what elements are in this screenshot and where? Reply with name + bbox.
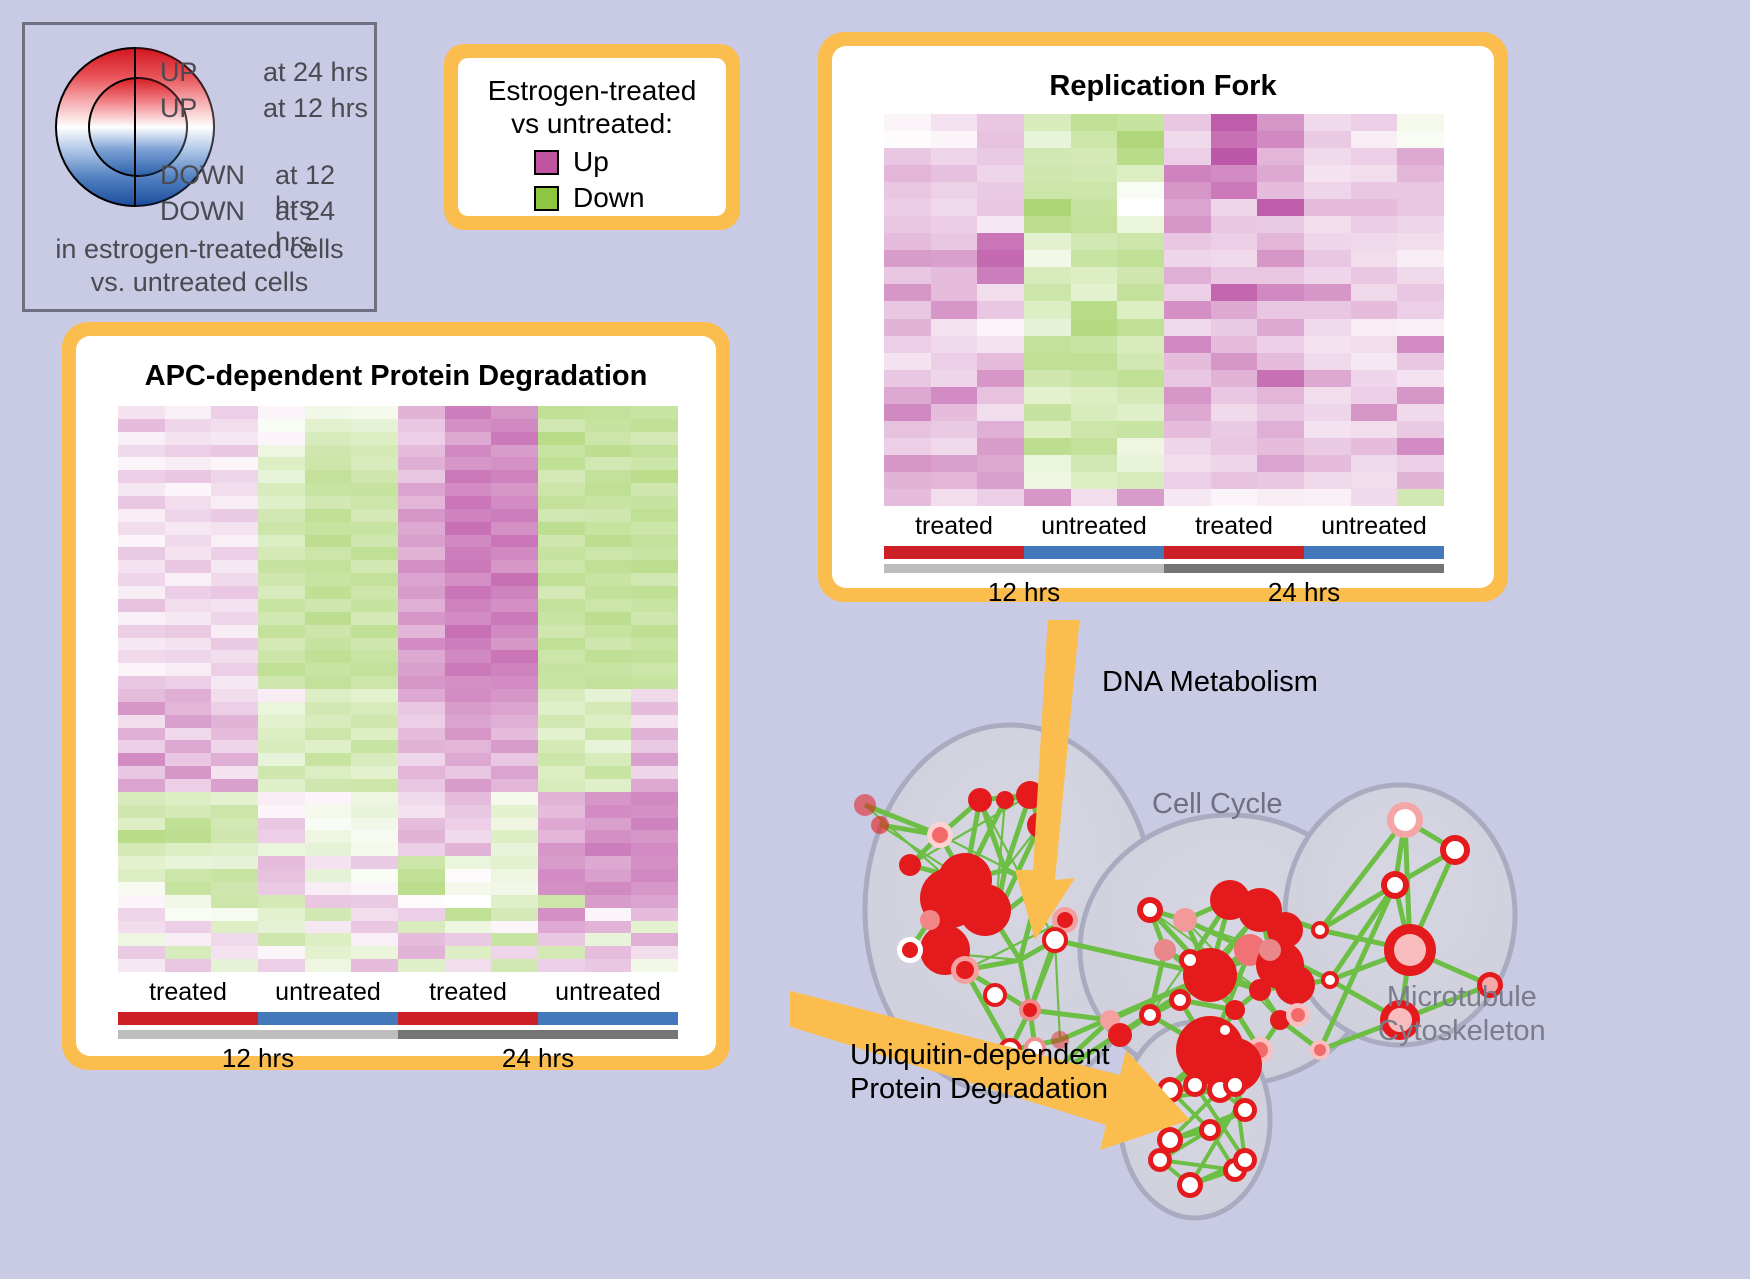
heatmap-cell [258,779,305,792]
heatmap-cell [1024,165,1071,182]
condition-bar-segment [1024,546,1164,559]
heatmap-cell [1304,148,1351,165]
heatmap-cell [1071,233,1118,250]
heatmap-cell [977,319,1024,336]
heatmap-cell [258,419,305,432]
heatmap-cell [258,959,305,972]
heatmap-cell [258,805,305,818]
heatmap-cell [258,728,305,741]
heatmap-cell [165,663,212,676]
heatmap-cell [1257,148,1304,165]
heatmap-cell [445,599,492,612]
heatmap-cell [538,470,585,483]
heatmap-cell [1117,114,1164,131]
heatmap-cell [351,432,398,445]
heatmap-cell [445,908,492,921]
heatmap-cell [445,509,492,522]
heatmap-cell [491,586,538,599]
heatmap-cell [1211,233,1258,250]
heatmap-cell [165,509,212,522]
heatmap-cell [884,250,931,267]
heatmap-cell [977,472,1024,489]
heatmap-cell [445,869,492,882]
heatmap-cell [631,740,678,753]
heatmap-cell [165,933,212,946]
heatmap-cell [305,406,352,419]
heatmap-cell [538,522,585,535]
heatmap-cell [445,535,492,548]
heatmap-cell [631,792,678,805]
heatmap-cell [585,792,632,805]
heatmap-cell [631,728,678,741]
heatmap-cell [977,336,1024,353]
heatmap-cell [165,625,212,638]
heatmap-cell [165,547,212,560]
heatmap-cell [351,586,398,599]
heatmap-cell [445,612,492,625]
heatmap-cell [538,702,585,715]
heatmap-cell [211,483,258,496]
heatmap-cell [491,728,538,741]
heatmap-cell [631,869,678,882]
updown-legend-panel: Estrogen-treated vs untreated: Up Down [444,44,740,230]
heatmap-cell [351,535,398,548]
heatmap-cell [1164,148,1211,165]
heatmap-cell [1164,387,1211,404]
heatmap-cell [1024,233,1071,250]
heatmap-cell [631,818,678,831]
heatmap-cell [538,445,585,458]
heatmap-cell [631,933,678,946]
heatmap-cell [118,496,165,509]
heatmap-cell [585,432,632,445]
heatmap-cell [305,638,352,651]
heatmap-cell [351,805,398,818]
heatmap-cell [1304,353,1351,370]
heatmap-cell [1164,182,1211,199]
heatmap-cell [211,689,258,702]
heatmap-cell [491,715,538,728]
heatmap-cell [1257,370,1304,387]
heatmap-cell [1164,301,1211,318]
updown-legend-title-line2: vs untreated: [458,107,726,140]
heatmap-cell [931,250,978,267]
heatmap-cell [884,370,931,387]
heatmap-cell [585,805,632,818]
heatmap-cell [1397,284,1444,301]
heatmap-cell [1071,131,1118,148]
heatmap-cell [211,869,258,882]
heatmap-cell [258,445,305,458]
heatmap-cell [1304,199,1351,216]
heatmap-cell [1117,336,1164,353]
heatmap-cell [1397,148,1444,165]
heatmap-cell [165,895,212,908]
heatmap-cell [1397,114,1444,131]
heatmap-cell [538,882,585,895]
heatmap-cell [631,650,678,663]
wheel-time-up-24: at 24 hrs [263,57,368,88]
heatmap-cell [491,522,538,535]
heatmap-cell [1071,114,1118,131]
heatmap-cell [491,535,538,548]
heatmap-cell [165,535,212,548]
heatmap-cell [445,573,492,586]
heatmap-cell [1257,404,1304,421]
heatmap-cell [491,933,538,946]
heatmap-cell [305,959,352,972]
heatmap-cell [118,625,165,638]
heatmap-cell [351,766,398,779]
heatmap-cell [585,766,632,779]
heatmap-cell [631,560,678,573]
heatmap-cell [211,792,258,805]
heatmap-cell [631,959,678,972]
heatmap-cell [211,805,258,818]
heatmap-cell [631,638,678,651]
heatmap-cell [538,766,585,779]
heatmap-cell [258,612,305,625]
replication-fork-heatmap [884,114,1444,506]
heatmap-cell [258,638,305,651]
condition-bar-segment [398,1012,538,1025]
heatmap-cell [445,547,492,560]
heatmap-cell [884,199,931,216]
heatmap-cell [398,676,445,689]
heatmap-cell [211,509,258,522]
heatmap-cell [1351,114,1398,131]
cluster-label-dna-metabolism: DNA Metabolism [1102,666,1318,699]
heatmap-cell [445,496,492,509]
heatmap-cell [118,766,165,779]
heatmap-cell [258,921,305,934]
heatmap-cell [445,921,492,934]
heatmap-cell [165,445,212,458]
heatmap-cell [211,638,258,651]
heatmap-cell [305,650,352,663]
heatmap-cell [258,740,305,753]
heatmap-cell [118,779,165,792]
heatmap-cell [1024,353,1071,370]
heatmap-cell [165,818,212,831]
heatmap-cell [305,612,352,625]
heatmap-cell [258,406,305,419]
heatmap-cell [977,216,1024,233]
heatmap-cell [1071,148,1118,165]
heatmap-cell [1211,131,1258,148]
heatmap-cell [398,959,445,972]
heatmap-cell [305,715,352,728]
heatmap-cell [931,353,978,370]
heatmap-cell [491,509,538,522]
heatmap-cell [1024,438,1071,455]
heatmap-cell [445,856,492,869]
replication-fork-time-bar [884,564,1444,573]
heatmap-cell [398,779,445,792]
heatmap-cell [931,148,978,165]
heatmap-cell [165,779,212,792]
heatmap-cell [491,612,538,625]
heatmap-cell [585,547,632,560]
heatmap-cell [977,182,1024,199]
heatmap-cell [1304,301,1351,318]
heatmap-cell [211,740,258,753]
heatmap-cell [445,406,492,419]
heatmap-cell [165,740,212,753]
heatmap-cell [351,779,398,792]
heatmap-cell [305,586,352,599]
heatmap-cell [398,406,445,419]
heatmap-cell [631,753,678,766]
heatmap-cell [165,419,212,432]
heatmap-cell [211,625,258,638]
condition-bar-segment [118,1012,258,1025]
heatmap-cell [1164,114,1211,131]
heatmap-cell [1397,301,1444,318]
heatmap-cell [491,573,538,586]
heatmap-cell [398,457,445,470]
heatmap-cell [445,779,492,792]
heatmap-cell [884,233,931,250]
heatmap-cell [1257,284,1304,301]
heatmap-cell [165,650,212,663]
heatmap-cell [1397,199,1444,216]
heatmap-cell [398,470,445,483]
heatmap-cell [165,882,212,895]
heatmap-cell [884,148,931,165]
wheel-time-up-12: at 12 hrs [263,93,368,124]
apc-degradation-condition-labels: treated untreated treated untreated [118,978,678,1007]
heatmap-cell [884,165,931,182]
heatmap-cell [585,663,632,676]
heatmap-cell [118,753,165,766]
heatmap-cell [538,869,585,882]
heatmap-cell [1304,182,1351,199]
heatmap-cell [1304,250,1351,267]
heatmap-cell [631,856,678,869]
heatmap-cell [631,483,678,496]
heatmap-cell [165,702,212,715]
heatmap-cell [211,560,258,573]
heatmap-cell [1164,165,1211,182]
heatmap-cell [1304,336,1351,353]
replication-fork-time-labels: 12 hrs 24 hrs [884,577,1444,608]
heatmap-cell [305,792,352,805]
heatmap-cell [585,959,632,972]
heatmap-cell [165,496,212,509]
heatmap-cell [118,818,165,831]
heatmap-cell [585,586,632,599]
heatmap-cell [211,650,258,663]
heatmap-cell [538,753,585,766]
heatmap-cell [445,625,492,638]
heatmap-cell [211,522,258,535]
heatmap-cell [538,560,585,573]
heatmap-cell [977,421,1024,438]
heatmap-cell [118,457,165,470]
heatmap-cell [305,457,352,470]
heatmap-cell [977,165,1024,182]
heatmap-cell [1211,267,1258,284]
heatmap-cell [118,470,165,483]
heatmap-cell [491,946,538,959]
heatmap-cell [491,638,538,651]
heatmap-cell [351,612,398,625]
heatmap-cell [445,586,492,599]
apc-degradation-condition-bar [118,1012,678,1025]
heatmap-cell [631,586,678,599]
heatmap-cell [491,805,538,818]
heatmap-cell [1211,370,1258,387]
heatmap-cell [931,455,978,472]
heatmap-cell [931,267,978,284]
heatmap-cell [1351,284,1398,301]
heatmap-cell [165,689,212,702]
apc-degradation-heatmap [118,406,678,972]
heatmap-cell [118,650,165,663]
heatmap-cell [211,496,258,509]
heatmap-cell [305,946,352,959]
time-bar-segment [884,564,1164,573]
heatmap-cell [398,753,445,766]
time-bar-segment [1164,564,1444,573]
heatmap-cell [1257,233,1304,250]
heatmap-cell [118,483,165,496]
heatmap-cell [305,933,352,946]
heatmap-cell [491,445,538,458]
heatmap-cell [211,766,258,779]
heatmap-cell [118,522,165,535]
heatmap-cell [631,882,678,895]
heatmap-cell [305,728,352,741]
heatmap-cell [538,818,585,831]
heatmap-cell [1071,370,1118,387]
heatmap-cell [1117,165,1164,182]
heatmap-cell [305,908,352,921]
heatmap-cell [258,663,305,676]
heatmap-cell [305,560,352,573]
heatmap-cell [398,560,445,573]
heatmap-cell [445,933,492,946]
heatmap-cell [631,805,678,818]
heatmap-cell [445,445,492,458]
heatmap-cell [631,419,678,432]
heatmap-cell [1304,216,1351,233]
heatmap-cell [631,766,678,779]
heatmap-cell [1071,455,1118,472]
heatmap-cell [118,535,165,548]
heatmap-cell [631,676,678,689]
colorwheel-legend: UP at 24 hrs UP at 12 hrs DOWN at 12 hrs… [22,22,377,312]
heatmap-cell [884,472,931,489]
heatmap-cell [1164,199,1211,216]
heatmap-cell [585,535,632,548]
heatmap-cell [977,148,1024,165]
heatmap-cell [258,766,305,779]
heatmap-cell [258,625,305,638]
heatmap-cell [351,496,398,509]
heatmap-cell [977,404,1024,421]
heatmap-cell [1211,421,1258,438]
wheel-label-down-12: DOWN [160,160,245,191]
heatmap-cell [491,432,538,445]
heatmap-cell [1351,336,1398,353]
heatmap-cell [258,895,305,908]
heatmap-cell [1211,148,1258,165]
heatmap-cell [1211,165,1258,182]
heatmap-cell [1024,301,1071,318]
heatmap-cell [398,445,445,458]
heatmap-cell [351,483,398,496]
heatmap-cell [1351,353,1398,370]
heatmap-cell [351,728,398,741]
heatmap-cell [1257,199,1304,216]
heatmap-cell [884,353,931,370]
heatmap-cell [538,483,585,496]
heatmap-cell [585,522,632,535]
heatmap-cell [491,702,538,715]
heatmap-cell [585,625,632,638]
heatmap-cell [538,933,585,946]
heatmap-cell [211,882,258,895]
heatmap-cell [211,856,258,869]
heatmap-cell [211,535,258,548]
heatmap-cell [118,702,165,715]
heatmap-cell [538,573,585,586]
heatmap-cell [491,663,538,676]
heatmap-cell [398,766,445,779]
heatmap-cell [258,509,305,522]
heatmap-cell [118,406,165,419]
heatmap-cell [305,522,352,535]
heatmap-cell [977,489,1024,506]
heatmap-cell [1024,421,1071,438]
heatmap-cell [165,843,212,856]
heatmap-cell [1117,131,1164,148]
heatmap-cell [585,830,632,843]
heatmap-cell [631,663,678,676]
heatmap-cell [1304,319,1351,336]
heatmap-cell [1071,353,1118,370]
heatmap-cell [258,676,305,689]
heatmap-cell [1257,438,1304,455]
heatmap-cell [1164,438,1211,455]
heatmap-cell [491,676,538,689]
heatmap-cell [1071,404,1118,421]
heatmap-cell [258,650,305,663]
heatmap-cell [258,830,305,843]
heatmap-cell [398,805,445,818]
heatmap-cell [305,445,352,458]
heatmap-cell [585,650,632,663]
heatmap-cell [1024,131,1071,148]
heatmap-cell [1211,250,1258,267]
heatmap-cell [398,547,445,560]
heatmap-cell [1071,387,1118,404]
heatmap-cell [305,535,352,548]
heatmap-cell [538,779,585,792]
heatmap-cell [538,805,585,818]
heatmap-cell [118,908,165,921]
condition-label: untreated [1024,512,1164,541]
heatmap-cell [1211,114,1258,131]
heatmap-cell [351,638,398,651]
heatmap-cell [305,895,352,908]
heatmap-cell [258,869,305,882]
heatmap-cell [538,509,585,522]
legend-item-down: Down [534,182,645,214]
heatmap-cell [258,547,305,560]
